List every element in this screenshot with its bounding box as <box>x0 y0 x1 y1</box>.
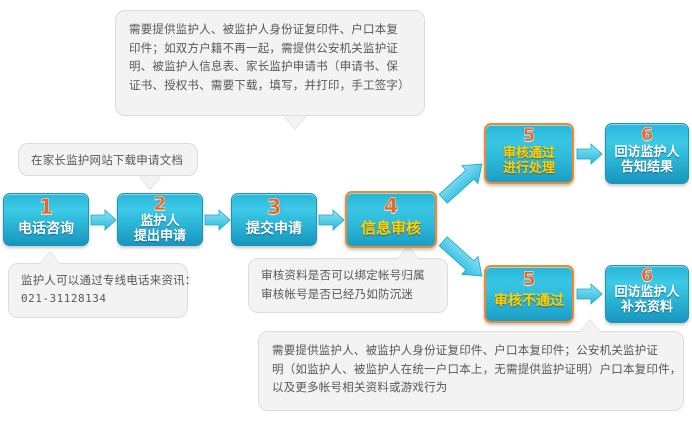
arrow-approved-to-followup <box>576 143 604 165</box>
step-label: 审核不通过 <box>494 294 564 310</box>
arrow-step3-to-step4 <box>319 209 345 231</box>
step-number: 3 <box>267 197 282 218</box>
arrow-step1-to-step2 <box>91 209 117 231</box>
flowchart-canvas: 需要提供监护人、被监护人身份证复印件、户口本复 印件；如双方户籍不再一起，需提供… <box>0 0 692 422</box>
step-label: 信息审核 <box>361 220 421 237</box>
bubble-tail-icon <box>579 320 601 333</box>
step-label: 提交申请 <box>246 222 302 238</box>
step-label-2: 提出申请 <box>134 230 186 245</box>
step-box-5-review-approved[interactable]: 5 审核通过 进行处理 <box>484 123 574 184</box>
bubble-top-documents: 需要提供监护人、被监护人身份证复印件、户口本复 印件；如双方户籍不再一起，需提供… <box>115 10 425 116</box>
step-box-4-information-review[interactable]: 4 信息审核 <box>345 191 437 248</box>
bubble-line: 监护人可以通过专线电话来资讯： <box>21 271 175 290</box>
step-label: 审核通过 <box>503 147 555 162</box>
step-number: 4 <box>384 196 399 217</box>
bubble-line: 需要提供监护人、被监护人身份证复印件、户口本复 <box>129 20 411 39</box>
step-box-6-followup-supplement[interactable]: 6 回访监护人 补充资料 <box>605 265 689 323</box>
step-box-6-followup-notify[interactable]: 6 回访监护人 告知结果 <box>605 123 689 184</box>
step-number: 6 <box>641 126 654 144</box>
step-label: 回访监护人 <box>614 146 679 161</box>
step-box-5-review-rejected[interactable]: 5 审核不通过 <box>484 265 574 323</box>
arrow-step4-to-approved <box>438 152 490 208</box>
bubble-line: 明、被监护人信息表、家长监护申请书（申请书、保 <box>129 57 411 76</box>
bubble-tail-icon <box>139 176 161 189</box>
bubble-tail-icon <box>39 252 61 265</box>
bubble-line: 在家长监护网站下载申请文档 <box>31 151 185 170</box>
step-box-1-phone-consult[interactable]: 1 电话咨询 <box>3 193 89 246</box>
arrow-step4-to-rejected <box>438 232 490 288</box>
bubble-line: 证书、授权书、需要下载，填写，并打印，手工签字） <box>129 76 411 95</box>
step-number: 5 <box>522 270 535 289</box>
step-box-2-guardian-apply[interactable]: 2 监护人 提出申请 <box>117 193 203 246</box>
bubble-line: 印件；如双方户籍不再一起，需提供公安机关监护证 <box>129 39 411 58</box>
bubble-line: 明（如监护人、被监护人在统一户口本上，无需提供监护证明）户口本复印件， <box>272 360 670 379</box>
step-number: 6 <box>641 267 654 285</box>
arrow-rejected-to-followup <box>576 283 604 305</box>
bubble-line: 以及更多帐号相关资料或游戏行为 <box>272 378 670 397</box>
step-label: 回访监护人 <box>614 286 679 301</box>
bubble-download-site: 在家长监护网站下载申请文档 <box>18 143 198 176</box>
step-label: 电话咨询 <box>18 222 74 238</box>
bubble-line: 审核资料是否可以绑定帐号归属 <box>261 266 435 285</box>
bubble-tail-icon <box>284 116 306 129</box>
arrow-step2-to-step3 <box>205 209 231 231</box>
step-label-2: 补充资料 <box>621 301 673 316</box>
step-label-2: 进行处理 <box>503 162 555 177</box>
step-number: 2 <box>153 195 166 214</box>
step-label-2: 告知结果 <box>621 161 673 176</box>
bubble-line: 审核帐号是否已经乃如防沉迷 <box>261 285 435 304</box>
step-number: 1 <box>39 197 54 218</box>
step-label: 监护人 <box>140 215 179 230</box>
bubble-hotline: 监护人可以通过专线电话来资讯： 021-31128134 <box>8 263 188 318</box>
bubble-review-checks: 审核资料是否可以绑定帐号归属 审核帐号是否已经乃如防沉迷 <box>248 258 448 313</box>
bubble-bottom-documents: 需要提供监护人、被监护人身份证复印件、户口本复印件；公安机关监护证 明（如监护人… <box>258 331 684 411</box>
step-box-3-submit-application[interactable]: 3 提交申请 <box>231 193 317 246</box>
bubble-tail-icon <box>397 247 419 260</box>
bubble-line: 需要提供监护人、被监护人身份证复印件、户口本复印件；公安机关监护证 <box>272 341 670 360</box>
step-number: 5 <box>523 127 536 145</box>
hotline-number: 021-31128134 <box>21 290 175 308</box>
